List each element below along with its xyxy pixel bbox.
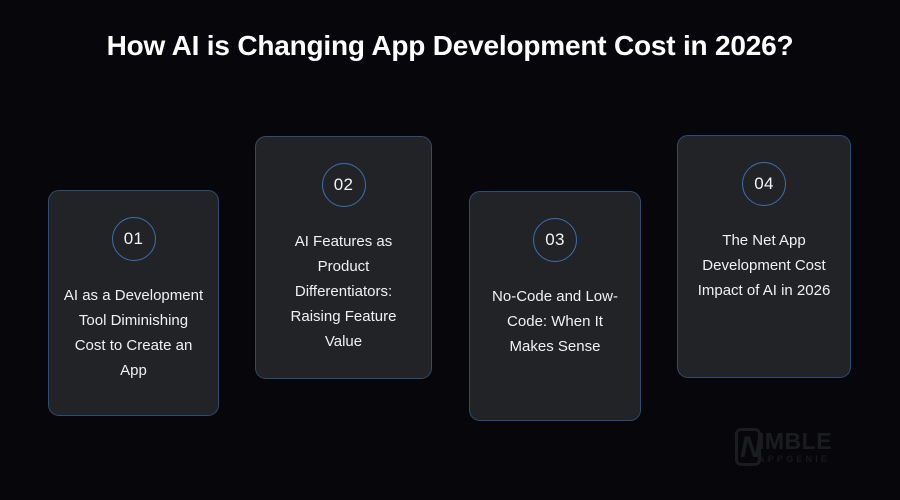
step-card-label: The Net App Development Cost Impact of A… xyxy=(678,228,850,303)
step-number-badge: 04 xyxy=(742,162,786,206)
step-card-01[interactable]: 01 AI as a Development Tool Diminishing … xyxy=(48,190,219,416)
step-card-label: AI as a Development Tool Diminishing Cos… xyxy=(49,283,218,383)
brand-wordmark: IMBLE APPGENIE xyxy=(758,430,832,465)
brand-watermark: N IMBLE APPGENIE xyxy=(735,423,860,471)
step-number-badge: 01 xyxy=(112,217,156,261)
step-card-label: No-Code and Low-Code: When It Makes Sens… xyxy=(470,284,640,359)
brand-name: IMBLE xyxy=(758,430,832,452)
step-card-label: AI Features as Product Differentiators: … xyxy=(256,229,431,354)
step-card-02[interactable]: 02 AI Features as Product Differentiator… xyxy=(255,136,432,379)
step-number-badge: 02 xyxy=(322,163,366,207)
phone-outline-icon: N xyxy=(735,428,761,466)
step-number-badge: 03 xyxy=(533,218,577,262)
step-card-03[interactable]: 03 No-Code and Low-Code: When It Makes S… xyxy=(469,191,641,421)
logo-n-letter: N xyxy=(737,433,765,463)
step-card-04[interactable]: 04 The Net App Development Cost Impact o… xyxy=(677,135,851,378)
brand-tagline: APPGENIE xyxy=(758,453,832,465)
